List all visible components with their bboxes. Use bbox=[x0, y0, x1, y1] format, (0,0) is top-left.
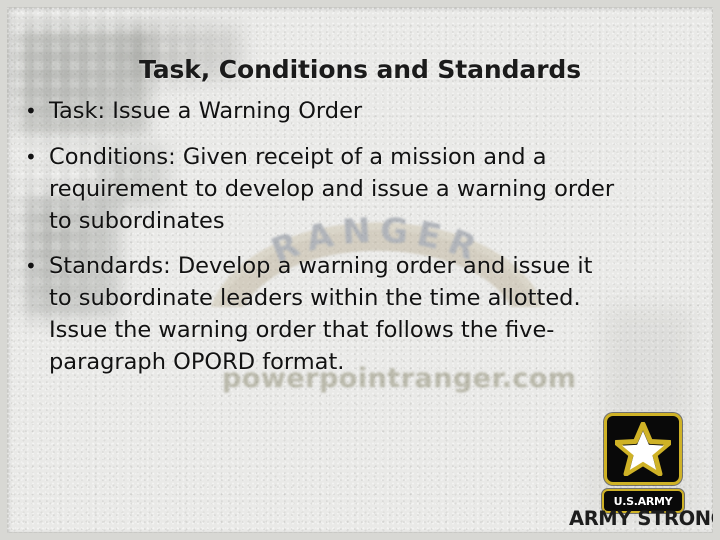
bullet-point-icon: • bbox=[25, 141, 49, 173]
us-army-logo: U.S.ARMY bbox=[601, 413, 685, 513]
bullet-point-icon: • bbox=[25, 95, 49, 127]
bullet-text: Task: Issue a Warning Order bbox=[49, 95, 625, 127]
slide-canvas: RANGER powerpointranger.com Task, Condit… bbox=[7, 7, 713, 533]
bullet-text: Conditions: Given receipt of a mission a… bbox=[49, 141, 625, 237]
slide-content: Task, Conditions and Standards • Task: I… bbox=[7, 7, 713, 533]
bullet-item-standards: • Standards: Develop a warning order and… bbox=[25, 250, 625, 378]
bullet-item-task: • Task: Issue a Warning Order bbox=[25, 95, 625, 127]
us-army-label: U.S.ARMY bbox=[614, 496, 673, 507]
army-star-badge bbox=[604, 413, 682, 485]
presentation-slide: RANGER powerpointranger.com Task, Condit… bbox=[0, 0, 720, 540]
army-strong-text: ARMY STRONG. bbox=[569, 507, 713, 530]
army-strong-tagline: ARMY STRONG.™ bbox=[569, 507, 713, 530]
bullet-point-icon: • bbox=[25, 250, 49, 282]
army-star-icon bbox=[615, 422, 671, 476]
bullet-text: Standards: Develop a warning order and i… bbox=[49, 250, 625, 378]
slide-title: Task, Conditions and Standards bbox=[7, 55, 713, 84]
bullet-item-conditions: • Conditions: Given receipt of a mission… bbox=[25, 141, 625, 237]
bullet-list: • Task: Issue a Warning Order • Conditio… bbox=[25, 95, 625, 388]
